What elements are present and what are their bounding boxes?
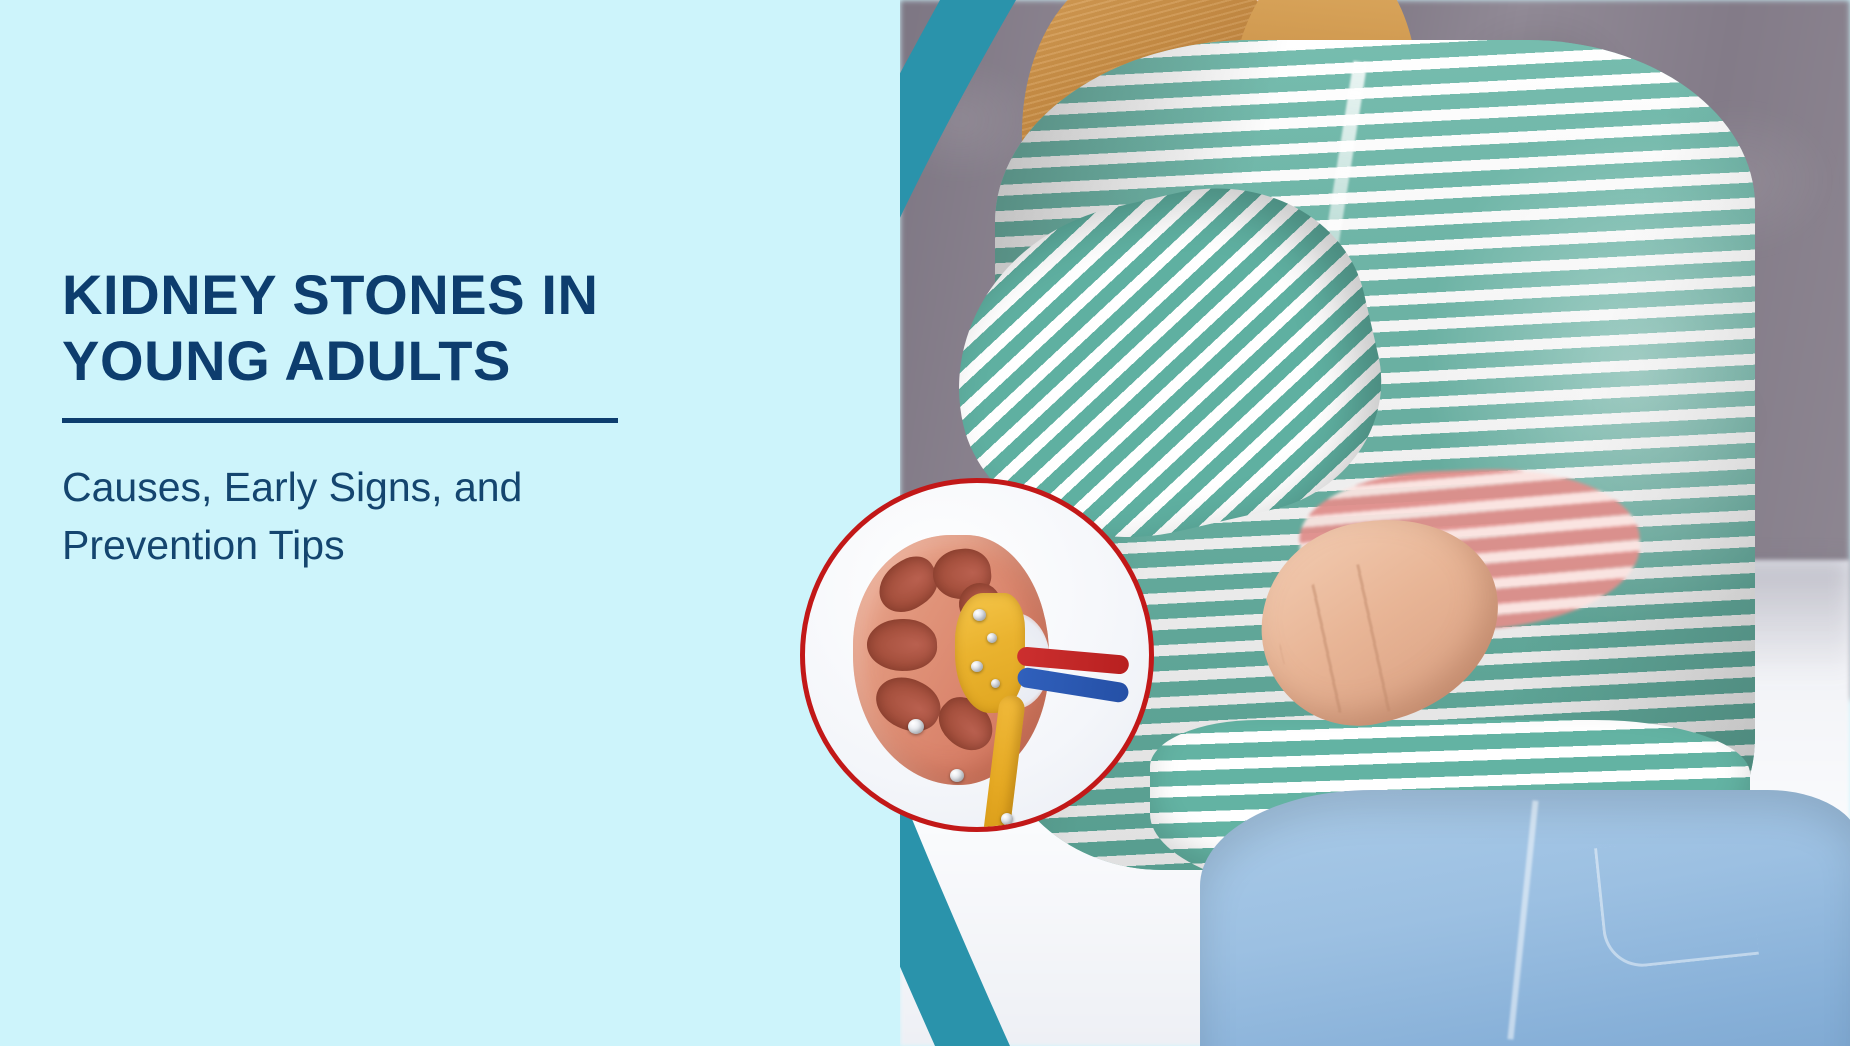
kidney-stone: [1001, 813, 1013, 825]
text-panel: KIDNEY STONES IN YOUNG ADULTS Causes, Ea…: [0, 0, 900, 1046]
kidney-stone: [987, 633, 997, 643]
kidney-stone: [973, 609, 986, 621]
kidney-stones-banner: KIDNEY STONES IN YOUNG ADULTS Causes, Ea…: [0, 0, 1850, 1046]
red-circle-highlight: [800, 478, 1154, 832]
jeans-pocket: [1594, 832, 1759, 970]
kidney-stone: [908, 719, 924, 734]
page-subtitle: Causes, Early Signs, and Prevention Tips: [62, 458, 662, 574]
kidney-stone: [950, 769, 964, 782]
page-title: KIDNEY STONES IN YOUNG ADULTS: [62, 262, 662, 394]
kidney-stone: [971, 661, 983, 672]
kidney-callout: [800, 478, 1150, 850]
title-divider: [62, 418, 618, 423]
kidney-stone: [991, 679, 1000, 688]
